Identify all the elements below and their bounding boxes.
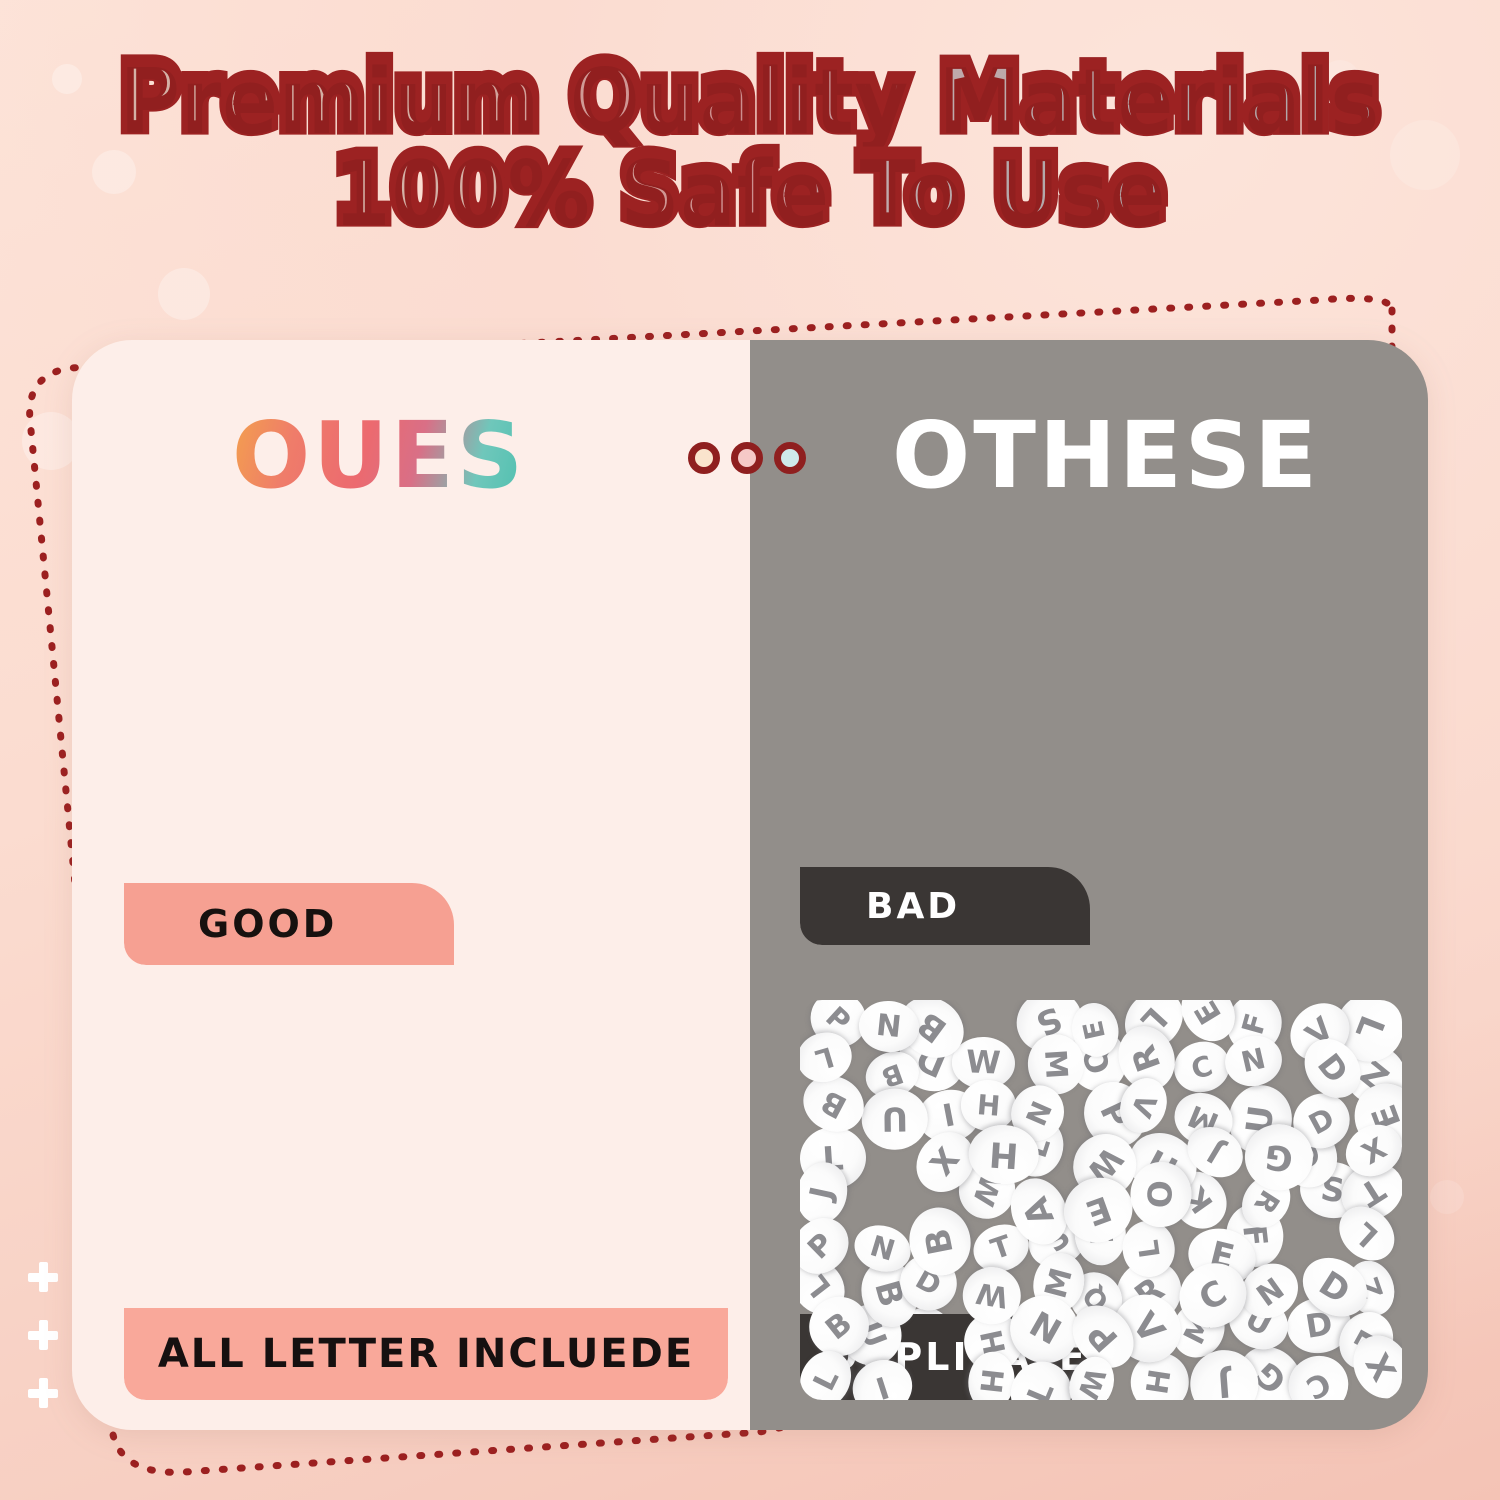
label-bad: BAD	[800, 867, 1090, 945]
brand-theirs-label: OTHESE	[892, 402, 1320, 509]
ring-dot-icon	[688, 442, 720, 474]
page-title: Premium Quality Materials 100% Safe To U…	[0, 52, 1500, 236]
brand-ours-label: OUES	[232, 402, 526, 509]
plus-decoration-icon	[28, 1262, 58, 1292]
label-good: GOOD	[124, 883, 454, 965]
bokeh-circle	[1430, 1180, 1464, 1214]
label-all-letters: ALL LETTER INCLUEDE	[124, 1308, 728, 1400]
brand-row: OUES OTHESE	[72, 402, 1428, 512]
plus-decoration-icon	[28, 1320, 58, 1350]
title-line-1: Premium Quality Materials	[120, 47, 1380, 148]
bokeh-circle	[158, 268, 210, 320]
ring-dot-icon	[774, 442, 806, 474]
separator-dots	[688, 442, 806, 474]
ring-dot-icon	[731, 442, 763, 474]
plus-decoration-icon	[28, 1378, 58, 1408]
title-line-2: 100% Safe To Use	[333, 139, 1166, 240]
